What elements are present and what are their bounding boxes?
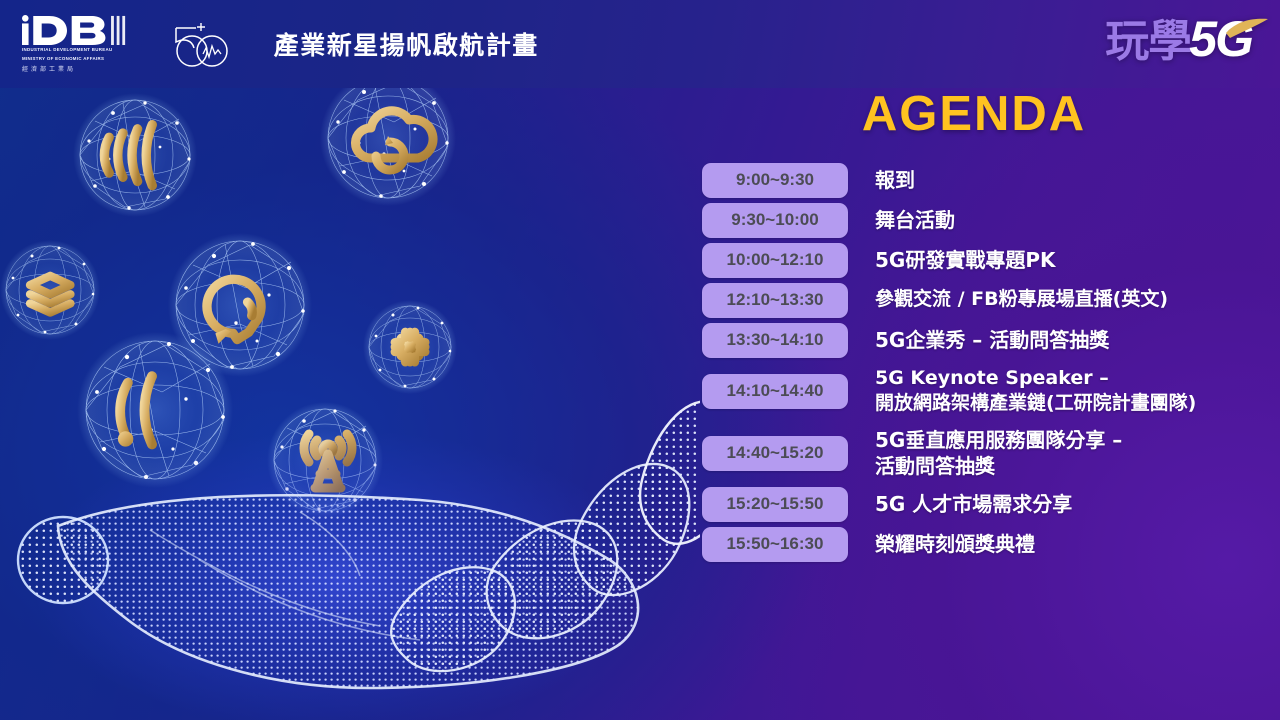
sphere-microchip xyxy=(363,300,457,394)
header-left-group: INDUSTRIAL DEVELOPMENT BUREAU MINISTRY O… xyxy=(0,15,539,72)
idb-subtitle-zh: 經濟部工業局 xyxy=(22,64,76,73)
hero-artwork xyxy=(0,60,700,720)
time-badge: 9:00~9:30 xyxy=(702,163,848,198)
program-title: 產業新星揚帆啟航計畫 xyxy=(274,26,539,62)
agenda-list: 9:00~9:30 報到 9:30~10:00 舞台活動 10:00~12:10… xyxy=(702,160,1268,564)
brand-logo: 玩學 5G xyxy=(1105,14,1252,64)
idb-subtitle-en-line2: MINISTRY OF ECONOMIC AFFAIRS xyxy=(22,56,104,63)
agenda-activity: 榮耀時刻頒獎典禮 xyxy=(848,531,1268,557)
idb-wordmark-icon xyxy=(22,15,146,45)
time-badge: 15:50~16:30 xyxy=(702,527,848,562)
time-badge: 13:30~14:10 xyxy=(702,323,848,358)
agenda-activity: 5G Keynote Speaker – 開放網路架構產業鏈(工研院計畫團隊) xyxy=(848,366,1268,416)
presentation-slide: INDUSTRIAL DEVELOPMENT BUREAU MINISTRY O… xyxy=(0,0,1280,720)
agenda-row: 15:50~16:30 榮耀時刻頒獎典禮 xyxy=(702,524,1268,564)
agenda-activity: 報到 xyxy=(848,167,1268,193)
agenda-activity: 5G企業秀 – 活動問答抽獎 xyxy=(848,327,1268,353)
agenda-row: 9:30~10:00 舞台活動 xyxy=(702,200,1268,240)
agenda-row: 15:20~15:50 5G 人才市場需求分享 xyxy=(702,484,1268,524)
agenda-activity: 5G垂直應用服務團隊分享 – 活動問答抽獎 xyxy=(848,427,1268,480)
page-title: AGENDA xyxy=(684,86,1264,142)
time-badge: 9:30~10:00 xyxy=(702,203,848,238)
agenda-row: 14:10~14:40 5G Keynote Speaker – 開放網路架構產… xyxy=(702,360,1268,422)
sphere-wifi-signal xyxy=(73,93,197,217)
idb-subtitle-en-line1: INDUSTRIAL DEVELOPMENT BUREAU xyxy=(22,47,112,54)
time-badge: 15:20~15:50 xyxy=(702,487,848,522)
agenda-row: 9:00~9:30 報到 xyxy=(702,160,1268,200)
agenda-row: 13:30~14:10 5G企業秀 – 活動問答抽獎 xyxy=(702,320,1268,360)
time-badge: 14:40~15:20 xyxy=(702,436,848,471)
time-badge: 10:00~12:10 xyxy=(702,243,848,278)
agenda-activity: 參觀交流 / FB粉專展場直播(英文) xyxy=(848,287,1268,312)
slide-header: INDUSTRIAL DEVELOPMENT BUREAU MINISTRY O… xyxy=(0,0,1280,88)
time-badge: 12:10~13:30 xyxy=(702,283,848,318)
time-badge: 14:10~14:40 xyxy=(702,374,848,409)
agenda-row: 14:40~15:20 5G垂直應用服務團隊分享 – 活動問答抽獎 xyxy=(702,422,1268,484)
idb-logo: INDUSTRIAL DEVELOPMENT BUREAU MINISTRY O… xyxy=(22,15,146,72)
brand-swoosh-icon xyxy=(1226,18,1268,44)
agenda-row: 12:10~13:30 參觀交流 / FB粉專展場直播(英文) xyxy=(702,280,1268,320)
brand-zh-text: 玩學 xyxy=(1105,20,1191,64)
sphere-layers-stack xyxy=(0,240,100,340)
agenda-activity: 5G 人才市場需求分享 xyxy=(848,491,1268,517)
sphere-cloud-sync xyxy=(320,70,456,206)
anniversary-50-plus-icon xyxy=(170,18,240,70)
agenda-activity: 舞台活動 xyxy=(848,207,1268,233)
agenda-row: 10:00~12:10 5G研發實戰專題PK xyxy=(702,240,1268,280)
brand-5g-group: 5G xyxy=(1189,14,1252,64)
agenda-activity: 5G研發實戰專題PK xyxy=(848,247,1268,273)
